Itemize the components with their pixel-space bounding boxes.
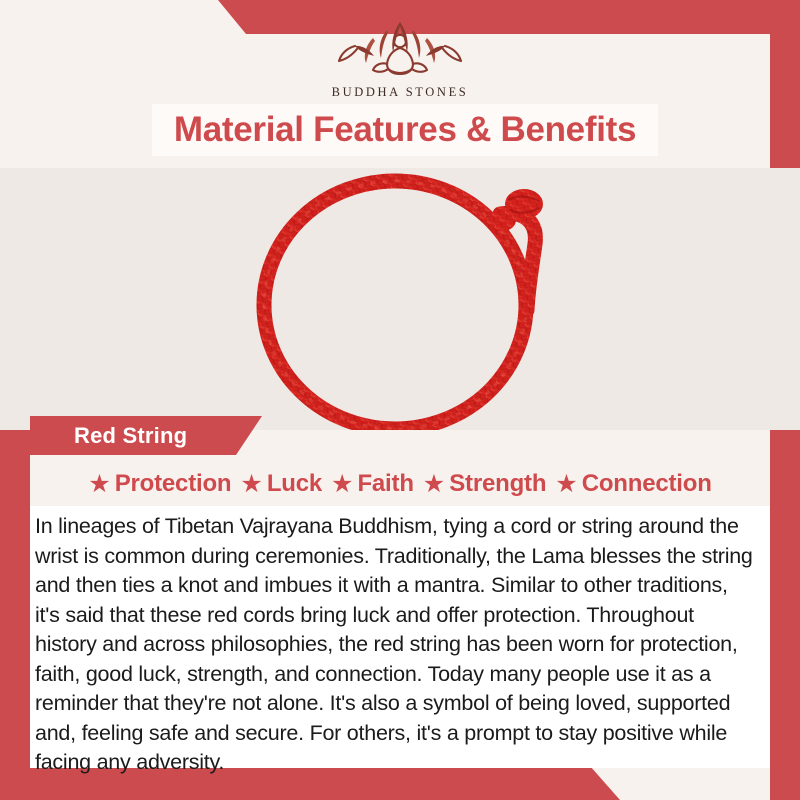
benefit-item-protection: ★ Protection	[88, 470, 231, 498]
product-photo	[0, 168, 800, 430]
star-icon: ★	[88, 472, 110, 497]
description-panel: In lineages of Tibetan Vajrayana Buddhis…	[30, 506, 770, 768]
benefits-list: ★ Protection ★ Luck ★ Faith ★ Strength ★…	[30, 464, 770, 504]
brand-name: BUDDHA STONES	[332, 85, 469, 100]
benefit-label: Connection	[582, 470, 712, 498]
star-icon: ★	[331, 472, 353, 497]
material-label-banner: Red String	[30, 416, 262, 455]
brand-logo: BUDDHA STONES	[0, 12, 800, 100]
benefit-label: Strength	[449, 470, 546, 498]
benefit-item-faith: ★ Faith	[331, 470, 414, 498]
star-icon: ★	[423, 472, 445, 497]
lotus-meditation-icon	[325, 12, 475, 84]
benefit-label: Faith	[357, 470, 413, 498]
benefit-label: Luck	[267, 470, 322, 498]
material-label: Red String	[74, 423, 187, 449]
red-string-bracelet-image	[232, 168, 584, 430]
star-icon: ★	[555, 472, 577, 497]
star-icon: ★	[240, 472, 262, 497]
benefit-item-strength: ★ Strength	[423, 470, 546, 498]
benefit-label: Protection	[115, 470, 232, 498]
page-title: Material Features & Benefits	[174, 110, 636, 150]
benefit-item-connection: ★ Connection	[555, 470, 711, 498]
benefit-item-luck: ★ Luck	[240, 470, 322, 498]
infographic-poster: BUDDHA STONES Material Features & Benefi…	[0, 0, 800, 800]
description-text: In lineages of Tibetan Vajrayana Buddhis…	[30, 506, 770, 778]
title-banner: Material Features & Benefits	[152, 104, 658, 156]
